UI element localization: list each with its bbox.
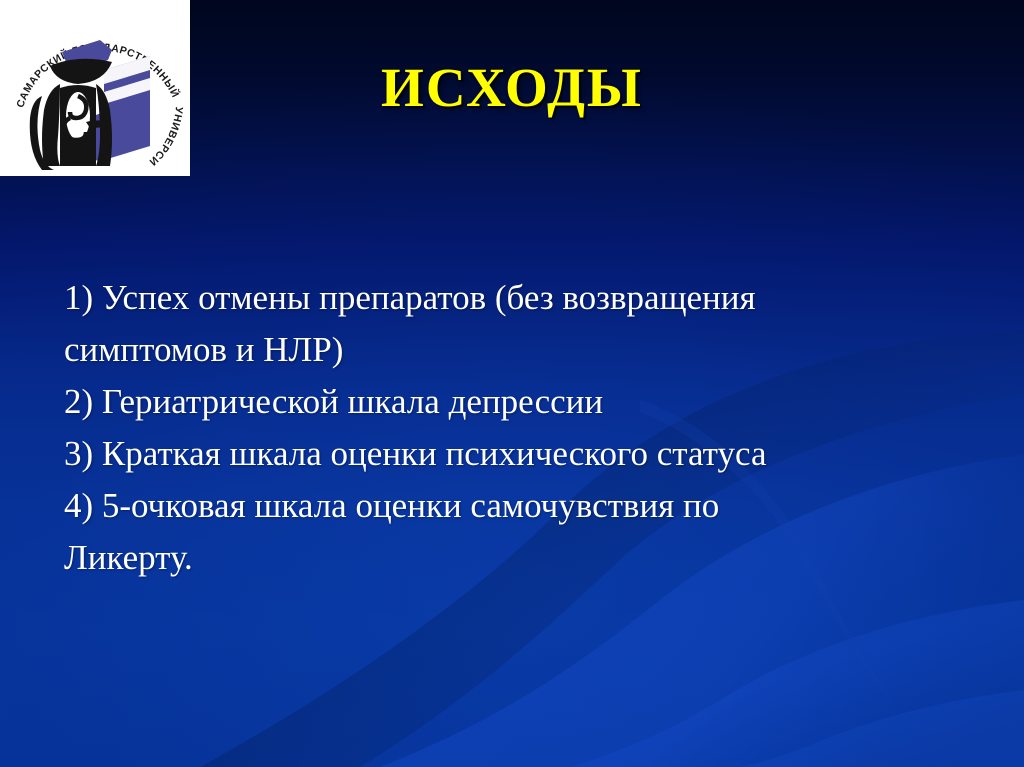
presentation-slide: САМАРСКИЙ ГОСУДАРСТВЕННЫЙ МЕДИЦИНСКИЙ УН…: [0, 0, 1024, 767]
list-item: симптомов и НЛР): [64, 324, 974, 376]
outcomes-list: 1) Успех отмены препаратов (без возвраще…: [64, 272, 974, 584]
list-item: Ликерту.: [64, 532, 974, 584]
list-item: 1) Успех отмены препаратов (без возвраще…: [64, 272, 974, 324]
page-title: ИСХОДЫ: [0, 56, 1024, 119]
list-item: 2) Гериатрической шкала депрессии: [64, 376, 974, 428]
list-item: 4) 5-очковая шкала оценки самочувствия п…: [64, 480, 974, 532]
list-item: 3) Краткая шкала оценки психического ста…: [64, 428, 974, 480]
